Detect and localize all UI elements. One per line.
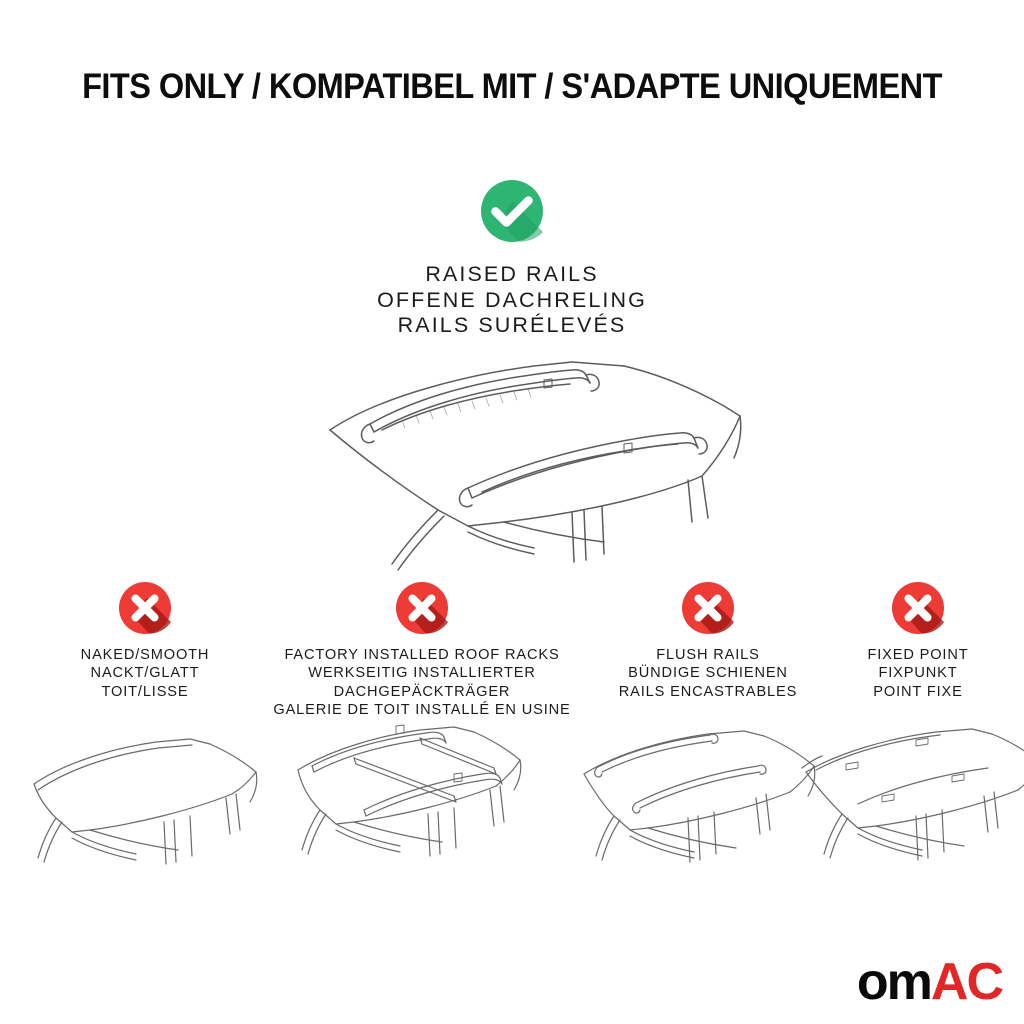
incompatible-label-en: FIXED POINT	[832, 646, 1005, 664]
car-roof-flush-rails-drawing	[562, 718, 824, 908]
compatible-label-de: OFFENE DACHRELING	[0, 288, 1024, 314]
incompatible-item-naked-smooth: NAKED/SMOOTH NACKT/GLATT TOIT/LISSE	[25, 570, 265, 701]
logo-text-accent: AC	[931, 956, 1002, 1008]
incompatible-label-de-1: WERKSEITIG INSTALLIERTER	[268, 664, 575, 682]
x-circle-icon	[394, 580, 450, 636]
incompatible-labels: FLUSH RAILS BÜNDIGE SCHIENEN RAILS ENCAS…	[588, 646, 828, 701]
incompatible-labels: FIXED POINT FIXPUNKT POINT FIXE	[828, 646, 1008, 701]
check-circle-icon	[479, 178, 545, 244]
incompatible-label-fr: POINT FIXE	[832, 683, 1005, 701]
compatible-label-en: RAISED RAILS	[0, 262, 1024, 288]
roof-fixed-point-svg	[792, 718, 1024, 908]
header: FITS ONLY / KOMPATIBEL MIT / S'ADAPTE UN…	[0, 68, 1024, 107]
incompatible-section: NAKED/SMOOTH NACKT/GLATT TOIT/LISSE FACT…	[0, 570, 1024, 730]
x-circle-icon-svg	[117, 580, 173, 636]
incompatible-item-flush-rails: FLUSH RAILS BÜNDIGE SCHIENEN RAILS ENCAS…	[588, 570, 828, 701]
incompatible-item-factory-installed-roof-racks: FACTORY INSTALLED ROOF RACKS WERKSEITIG …	[262, 570, 582, 720]
roof-naked-svg	[4, 718, 266, 908]
incompatible-labels: NAKED/SMOOTH NACKT/GLATT TOIT/LISSE	[25, 646, 265, 701]
logo-text-dark: om	[857, 956, 931, 1008]
incompatible-label-de-2: DACHGEPÄCKTRÄGER	[268, 683, 575, 701]
incompatible-label-de: NACKT/GLATT	[30, 664, 260, 682]
x-circle-icon-svg	[680, 580, 736, 636]
hero-roof-svg	[272, 340, 752, 580]
incompatible-label-fr: GALERIE DE TOIT INSTALLÉ EN USINE	[268, 701, 575, 719]
incompatible-labels: FACTORY INSTALLED ROOF RACKS WERKSEITIG …	[262, 646, 582, 720]
incompatible-label-en: FLUSH RAILS	[593, 646, 823, 664]
x-circle-icon-svg	[890, 580, 946, 636]
car-roof-factory-rack-drawing	[268, 718, 530, 908]
x-circle-icon	[680, 580, 736, 636]
omac-logo: omAC	[857, 954, 1002, 1010]
roof-factory-rack-svg	[268, 718, 530, 908]
incompatible-item-fixed-point: FIXED POINT FIXPUNKT POINT FIXE	[828, 570, 1008, 701]
roof-flush-rails-svg	[562, 718, 824, 908]
incompatible-label-de: BÜNDIGE SCHIENEN	[593, 664, 823, 682]
compatible-section: RAISED RAILS OFFENE DACHRELING RAILS SUR…	[0, 178, 1024, 339]
x-circle-icon-svg	[394, 580, 450, 636]
incompatible-illustrations	[0, 718, 1024, 908]
incompatible-label-fr: TOIT/LISSE	[30, 683, 260, 701]
car-roof-fixed-point-drawing	[792, 718, 1024, 908]
incompatible-label-en: FACTORY INSTALLED ROOF RACKS	[268, 646, 575, 664]
compatible-label-fr: RAILS SURÉLEVÉS	[0, 313, 1024, 339]
x-circle-icon	[117, 580, 173, 636]
car-roof-naked-smooth-drawing	[4, 718, 266, 908]
car-roof-with-raised-rails-drawing	[272, 340, 752, 580]
incompatible-label-en: NAKED/SMOOTH	[30, 646, 260, 664]
incompatible-label-de: FIXPUNKT	[832, 664, 1005, 682]
check-circle-icon-svg	[479, 178, 545, 244]
incompatible-label-fr: RAILS ENCASTRABLES	[593, 683, 823, 701]
x-circle-icon	[890, 580, 946, 636]
page-title: FITS ONLY / KOMPATIBEL MIT / S'ADAPTE UN…	[36, 68, 988, 107]
compatible-labels: RAISED RAILS OFFENE DACHRELING RAILS SUR…	[0, 262, 1024, 339]
